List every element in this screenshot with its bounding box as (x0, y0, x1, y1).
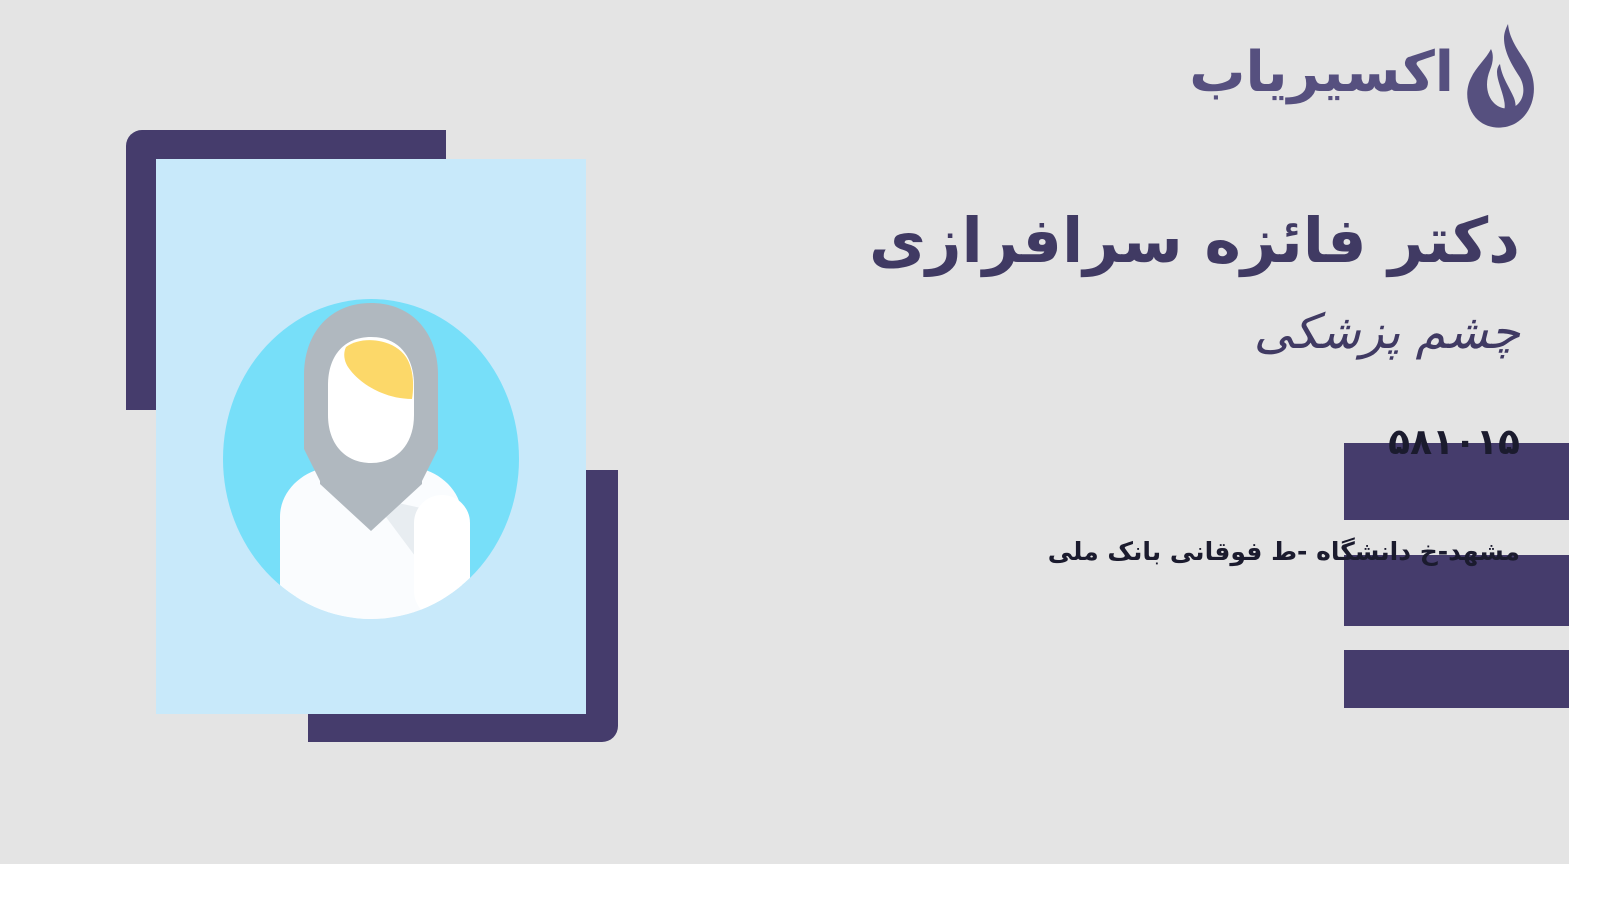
portrait-plate (156, 159, 586, 714)
license-number: ۵۸۱۰۱۵ (1388, 425, 1520, 461)
brand-logo[interactable]: اکسیریاب (1189, 22, 1538, 132)
brand-name: اکسیریاب (1189, 45, 1454, 109)
female-doctor-avatar-icon (216, 299, 526, 619)
doctor-info: دکتر فائزه سرافرازی چشم پزشکی ۵۸۱۰۱۵ مشه… (800, 205, 1520, 569)
doctor-portrait (126, 130, 618, 742)
decor-bar-3 (1344, 650, 1569, 708)
doctor-specialty: چشم پزشکی (800, 302, 1520, 362)
doctor-profile-card: اکسیریاب دکتر فائزه سرافرازی چشم پزشکی ۵… (0, 0, 1600, 900)
doctor-name: دکتر فائزه سرافرازی (800, 205, 1520, 276)
doctor-address: مشهد-خ دانشگاه -ط فوقانی بانک ملی (800, 534, 1520, 569)
flame-droplet-logo-icon (1464, 22, 1538, 132)
license-row: ۵۸۱۰۱۵ (800, 404, 1520, 482)
